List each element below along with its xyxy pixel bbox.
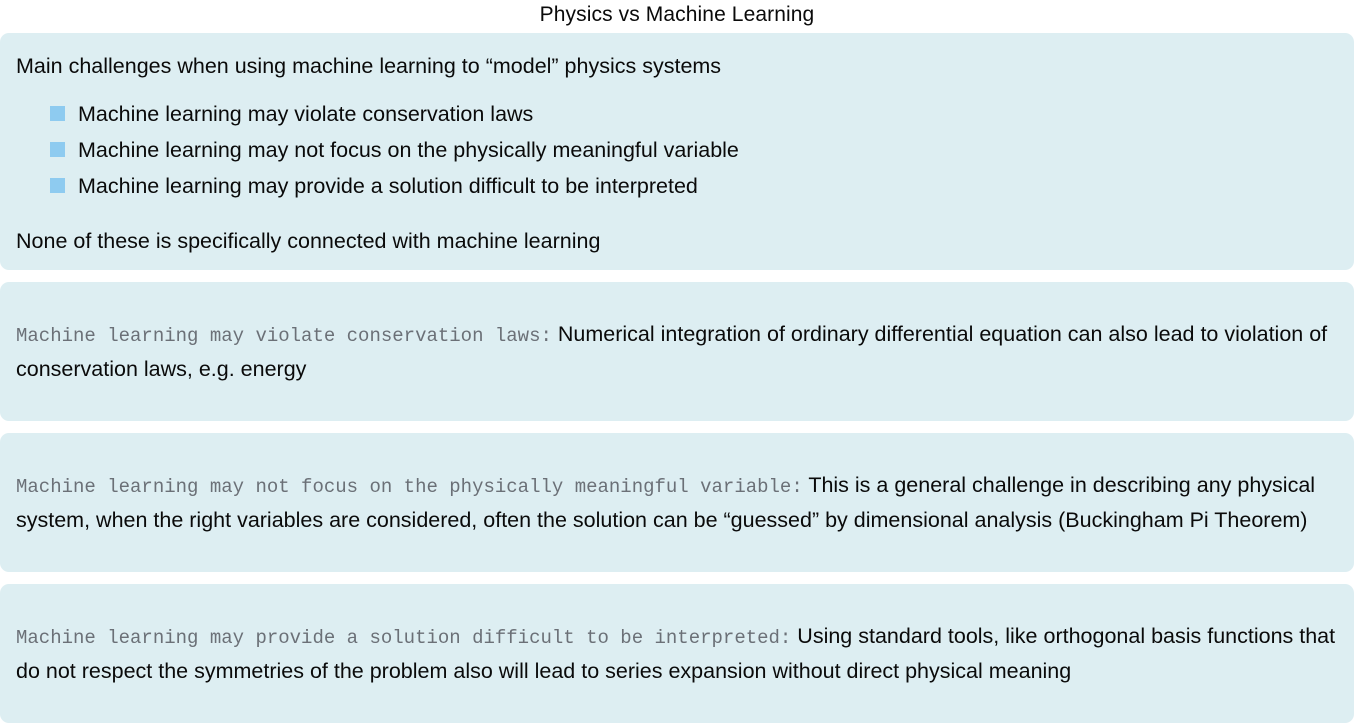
page-title: Physics vs Machine Learning — [0, 0, 1354, 33]
list-item: Machine learning may not focus on the ph… — [16, 133, 1338, 168]
challenges-lead-text: Main challenges when using machine learn… — [16, 51, 1338, 81]
detail-term: Machine learning may provide a solution … — [16, 627, 791, 649]
detail-panel-interpretability: Machine learning may provide a solution … — [0, 584, 1354, 723]
bullet-label: Machine learning may provide a solution … — [78, 169, 698, 204]
detail-paragraph: Machine learning may not focus on the ph… — [16, 469, 1338, 537]
challenges-bullet-list: Machine learning may violate conservatio… — [16, 97, 1338, 204]
square-bullet-icon — [50, 178, 65, 193]
square-bullet-icon — [50, 106, 65, 121]
detail-term: Machine learning may not focus on the ph… — [16, 476, 803, 498]
detail-paragraph: Machine learning may provide a solution … — [16, 620, 1338, 688]
detail-term: Machine learning may violate conservatio… — [16, 325, 552, 347]
challenges-closing-text: None of these is specifically connected … — [16, 226, 1338, 256]
panel-stack: Main challenges when using machine learn… — [0, 33, 1354, 723]
challenges-panel: Main challenges when using machine learn… — [0, 33, 1354, 270]
slide: Physics vs Machine Learning Main challen… — [0, 0, 1354, 692]
detail-paragraph: Machine learning may violate conservatio… — [16, 318, 1338, 386]
bullet-label: Machine learning may violate conservatio… — [78, 97, 533, 132]
bullet-label: Machine learning may not focus on the ph… — [78, 133, 739, 168]
detail-panel-meaningful-variable: Machine learning may not focus on the ph… — [0, 433, 1354, 572]
list-item: Machine learning may provide a solution … — [16, 169, 1338, 204]
square-bullet-icon — [50, 142, 65, 157]
detail-panel-conservation-laws: Machine learning may violate conservatio… — [0, 282, 1354, 421]
list-item: Machine learning may violate conservatio… — [16, 97, 1338, 132]
